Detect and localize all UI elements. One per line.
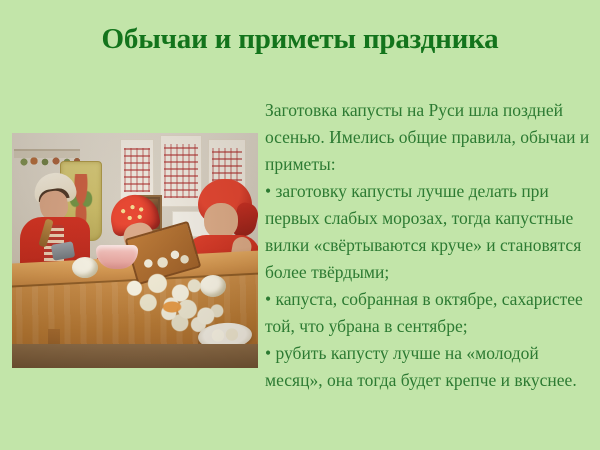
bullet-item-1: • заготовку капусты лучше делать при пер… — [265, 178, 597, 286]
wall-shelf — [14, 149, 80, 158]
photo-scene — [12, 133, 258, 368]
slide: Обычаи и приметы праздника — [0, 0, 600, 450]
grated-carrot — [162, 301, 182, 313]
intro-paragraph: Заготовка капусты на Руси шла поздней ос… — [265, 97, 597, 178]
bullet-item-2: • капуста, собранная в октябре, сахарист… — [265, 286, 597, 340]
cabbage-head — [72, 257, 98, 278]
floor — [12, 344, 258, 368]
face — [204, 203, 238, 239]
body-text-block: Заготовка капусты на Руси шла поздней ос… — [265, 97, 597, 394]
illustration-photo — [12, 133, 258, 368]
embroidered-towel — [120, 139, 154, 201]
page-title: Обычаи и приметы праздника — [0, 22, 600, 56]
bullet-item-3: • рубить капусту лучше на «молодой месяц… — [265, 340, 597, 394]
